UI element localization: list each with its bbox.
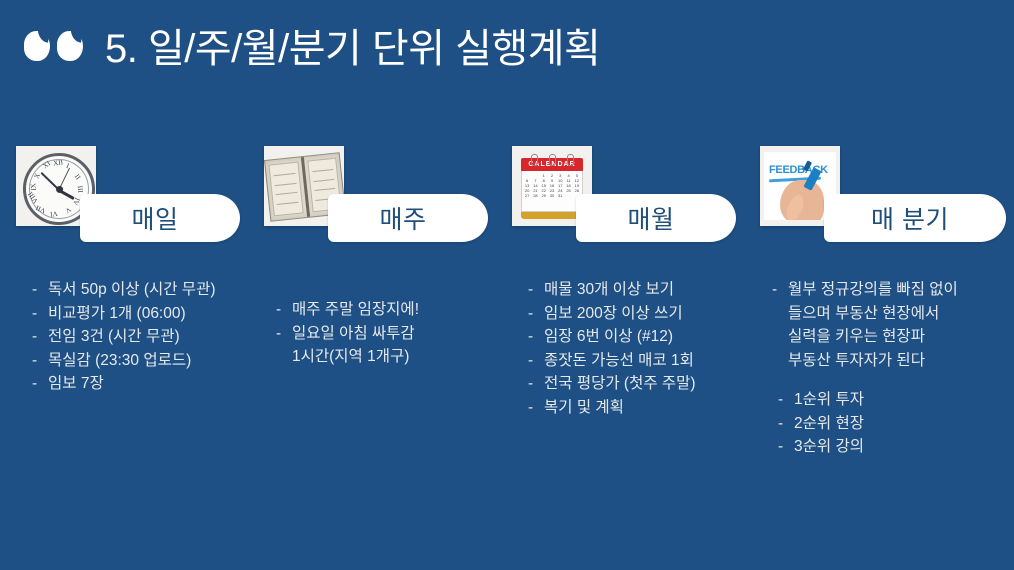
bullet-list-quarterly: 월부 정규강의를 빠짐 없이 들으며 부동산 현장에서 실력을 키우는 현장파 … bbox=[770, 278, 1010, 372]
column-weekly: 매주 매주 주말 임장지에!일요일 아침 싸투감 1시간(지역 1개구) bbox=[256, 138, 506, 558]
list-item: 복기 및 계획 bbox=[526, 396, 776, 420]
bullets-monthly: 매물 30개 이상 보기임보 200장 이상 쓰기임장 6번 이상 (#12)종… bbox=[526, 278, 776, 419]
bullet-list-weekly: 매주 주말 임장지에!일요일 아침 싸투감 1시간(지역 1개구) bbox=[274, 298, 524, 369]
list-item: 1순위 투자 bbox=[776, 388, 1014, 412]
column-header-weekly: 매주 bbox=[256, 138, 506, 258]
list-item: 월부 정규강의를 빠짐 없이 들으며 부동산 현장에서 실력을 키우는 현장파 … bbox=[770, 278, 1010, 372]
slide-root: 5. 일/주/월/분기 단위 실행계획 XII I II III IV V VI… bbox=[0, 0, 1014, 570]
bullets-daily: 독서 50p 이상 (시간 무관)비교평가 1개 (06:00)전임 3건 (시… bbox=[30, 278, 280, 396]
list-item: 전국 평당가 (첫주 주말) bbox=[526, 372, 776, 396]
columns-container: XII I II III IV V VI VII VIII IX X XI bbox=[0, 138, 1014, 558]
calendar-day-cell: 29 bbox=[540, 193, 548, 198]
banner-label-quarterly: 매 분기 bbox=[871, 200, 959, 236]
calendar-grid: 1234567891011121314151617181920212223242… bbox=[521, 171, 583, 212]
bullets-weekly: 매주 주말 임장지에!일요일 아침 싸투감 1시간(지역 1개구) bbox=[274, 298, 524, 369]
bullets-quarterly: 월부 정규강의를 빠짐 없이 들으며 부동산 현장에서 실력을 키우는 현장파 … bbox=[770, 278, 1010, 372]
banner-weekly: 매주 bbox=[328, 194, 488, 242]
column-header-daily: XII I II III IV V VI VII VIII IX X XI bbox=[8, 138, 258, 258]
calendar-day-cell: 27 bbox=[523, 193, 531, 198]
bullet-list-monthly: 매물 30개 이상 보기임보 200장 이상 쓰기임장 6번 이상 (#12)종… bbox=[526, 278, 776, 419]
list-item: 매물 30개 이상 보기 bbox=[526, 278, 776, 302]
list-item: 2순위 현장 bbox=[776, 412, 1014, 436]
list-item: 전임 3건 (시간 무관) bbox=[30, 325, 280, 349]
list-item: 비교평가 1개 (06:00) bbox=[30, 302, 280, 326]
list-item: 임보 7장 bbox=[30, 372, 280, 396]
column-header-monthly: CALENDAR 1234567891011121314151617181920… bbox=[504, 138, 754, 258]
bullet-list-quarterly-priorities: 1순위 투자2순위 현장3순위 강의 bbox=[776, 388, 1014, 459]
list-item: 일요일 아침 싸투감 1시간(지역 1개구) bbox=[274, 322, 524, 369]
list-item: 독서 50p 이상 (시간 무관) bbox=[30, 278, 280, 302]
calendar-day-cell bbox=[564, 193, 572, 198]
bullets-quarterly-priorities: 1순위 투자2순위 현장3순위 강의 bbox=[776, 388, 1014, 459]
calendar-day-cell: 31 bbox=[556, 193, 564, 198]
list-item: 임보 200장 이상 쓰기 bbox=[526, 302, 776, 326]
column-quarterly: FEEDBACK 매 분기 월부 정규강의를 빠짐 없이 들으며 부동산 현장에… bbox=[752, 138, 1002, 558]
banner-label-monthly: 매월 bbox=[627, 200, 684, 236]
list-item: 임장 6번 이상 (#12) bbox=[526, 325, 776, 349]
calendar-day-cell: 30 bbox=[548, 193, 556, 198]
quote-marks-icon bbox=[24, 31, 83, 61]
list-item: 매주 주말 임장지에! bbox=[274, 298, 524, 322]
banner-daily: 매일 bbox=[80, 194, 240, 242]
banner-label-daily: 매일 bbox=[131, 200, 188, 236]
column-daily: XII I II III IV V VI VII VIII IX X XI bbox=[8, 138, 258, 558]
banner-monthly: 매월 bbox=[576, 194, 736, 242]
column-header-quarterly: FEEDBACK 매 분기 bbox=[752, 138, 1002, 258]
bullet-list-daily: 독서 50p 이상 (시간 무관)비교평가 1개 (06:00)전임 3건 (시… bbox=[30, 278, 280, 396]
list-item: 3순위 강의 bbox=[776, 435, 1014, 459]
slide-title-row: 5. 일/주/월/분기 단위 실행계획 bbox=[0, 10, 1014, 80]
list-item: 종잣돈 가능선 매코 1회 bbox=[526, 349, 776, 373]
banner-quarterly: 매 분기 bbox=[824, 194, 1006, 242]
list-item: 목실감 (23:30 업로드) bbox=[30, 349, 280, 373]
calendar-day-cell: 28 bbox=[531, 193, 539, 198]
column-monthly: CALENDAR 1234567891011121314151617181920… bbox=[504, 138, 754, 558]
banner-label-weekly: 매주 bbox=[379, 200, 436, 236]
page-title: 5. 일/주/월/분기 단위 실행계획 bbox=[105, 16, 600, 74]
